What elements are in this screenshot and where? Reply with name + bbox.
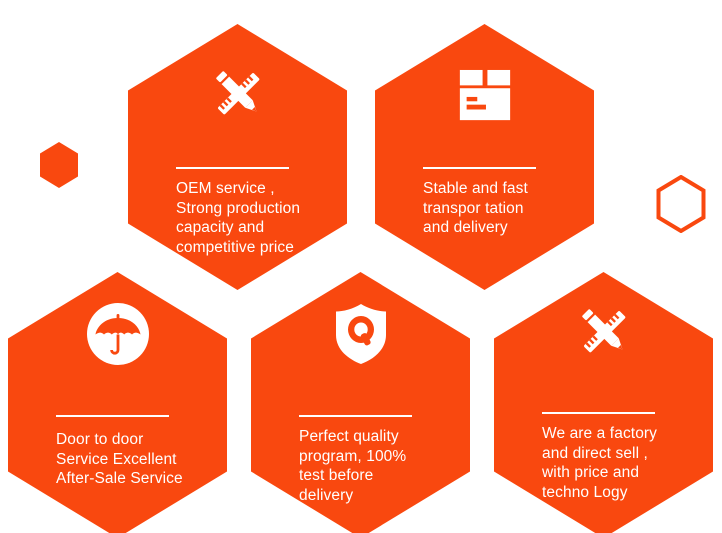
card-divider [56, 415, 169, 417]
umbrella-circle-icon [8, 300, 227, 366]
card-divider [176, 167, 289, 169]
card-text-service: Door to door Service Excellent After-Sal… [56, 430, 228, 489]
infographic-canvas: Company Advantages Hexagon Infographic [0, 0, 722, 533]
card-text-shipping: Stable and fast transpor tation and deli… [423, 179, 583, 238]
feature-card-quality[interactable]: Perfect quality program, 100% test befor… [251, 272, 470, 533]
feature-card-shipping[interactable]: Stable and fast transpor tation and deli… [375, 24, 594, 290]
card-divider [299, 415, 412, 417]
card-text-quality: Perfect quality program, 100% test befor… [299, 427, 459, 505]
decorative-hexagon-filled [40, 142, 78, 188]
package-box-icon [375, 66, 594, 124]
card-text-factory: We are a factory and direct sell , with … [542, 424, 702, 502]
card-text-oem: OEM service , Strong production capacity… [176, 179, 336, 257]
decorative-hexagon-outline [656, 175, 706, 233]
pencil-ruler-icon [128, 64, 347, 124]
feature-card-factory[interactable]: We are a factory and direct sell , with … [494, 272, 713, 533]
pencil-ruler-icon [494, 300, 713, 362]
feature-card-oem[interactable]: OEM service , Strong production capacity… [128, 24, 347, 290]
card-divider [542, 412, 655, 414]
hexagon-outline-icon [656, 175, 706, 233]
shield-q-icon [251, 302, 470, 366]
feature-card-service[interactable]: Door to door Service Excellent After-Sal… [8, 272, 227, 533]
card-divider [423, 167, 536, 169]
